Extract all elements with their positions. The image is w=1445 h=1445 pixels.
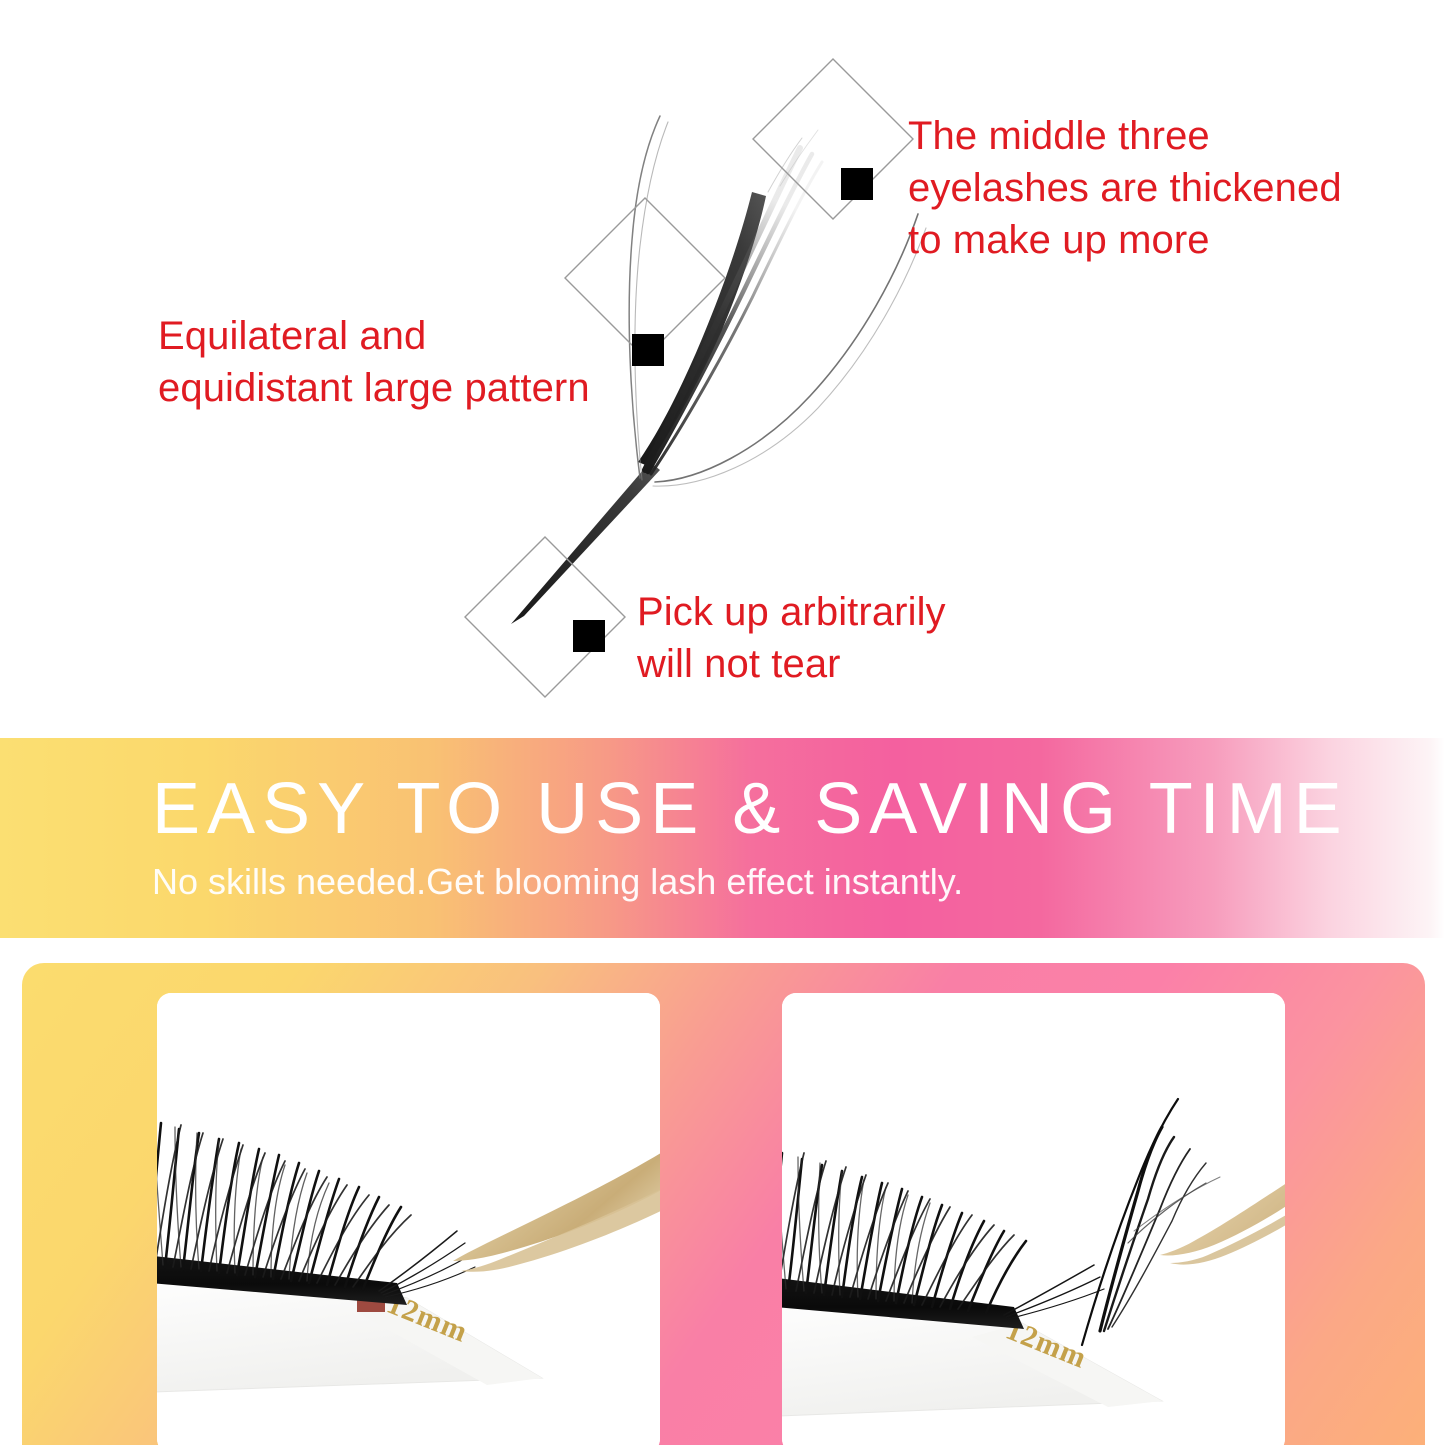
callout-equilateral-pattern: Equilateral and equidistant large patter… (158, 310, 628, 414)
photo-lash-fan-being-picked-up: 12mm (782, 993, 1285, 1445)
banner-subtitle: No skills needed.Get blooming lash effec… (152, 861, 963, 903)
product-photo-panel: 12mm (22, 963, 1425, 1445)
feature-diagram-section: The middle three eyelashes are thickened… (0, 0, 1445, 738)
marker-square-middle (632, 334, 664, 366)
diamond-outline-bottom (465, 537, 625, 697)
easy-to-use-banner: EASY TO USE & SAVING TIME No skills need… (0, 738, 1445, 938)
marker-square-top (841, 168, 873, 200)
photo-lash-strip-with-tweezers: 12mm (157, 993, 660, 1445)
banner-title: EASY TO USE & SAVING TIME (152, 773, 1349, 845)
marker-square-bottom (573, 620, 605, 652)
photo-card-right: 12mm (782, 993, 1285, 1445)
callout-middle-three-eyelashes: The middle three eyelashes are thickened… (908, 110, 1368, 266)
callout-pick-up-arbitrarily: Pick up arbitrarily will not tear (637, 586, 1037, 690)
photo-card-left: 12mm (157, 993, 660, 1445)
